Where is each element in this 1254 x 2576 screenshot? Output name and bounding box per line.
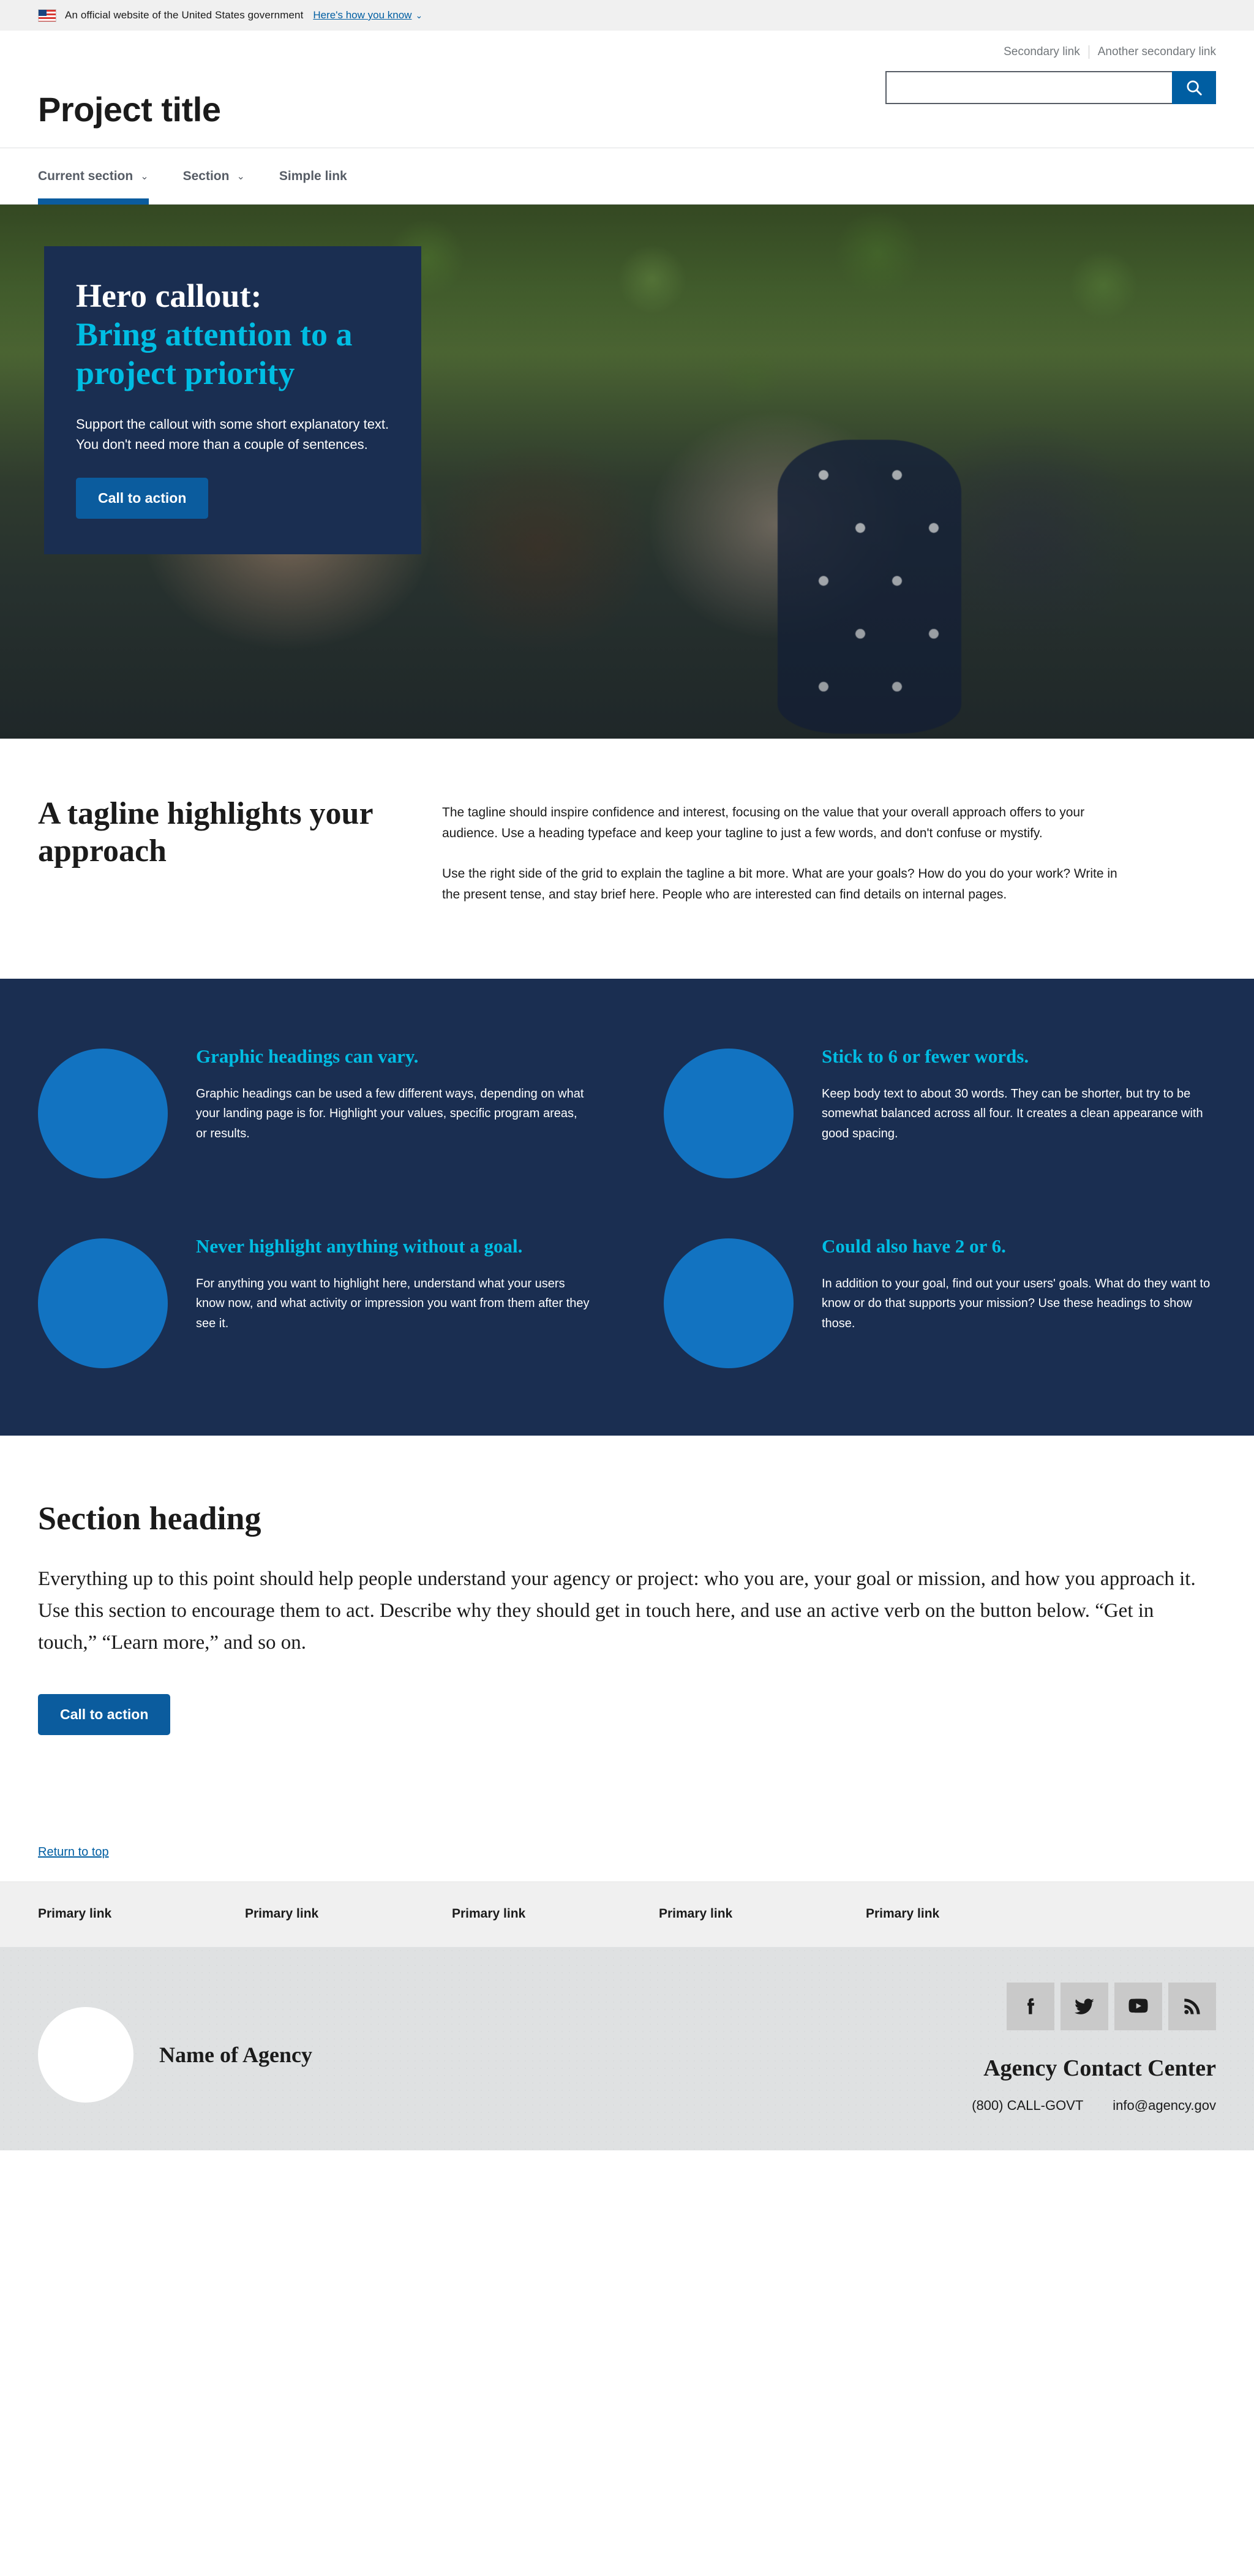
footer-agency-block: Name of Agency	[38, 1983, 312, 2103]
footer-primary-links: Primary link Primary link Primary link P…	[0, 1881, 1254, 1947]
return-to-top-link[interactable]: Return to top	[38, 1845, 109, 1859]
return-to-top-wrap: Return to top	[0, 1772, 1254, 1881]
site-header: Project title Secondary link Another sec…	[0, 31, 1254, 148]
agency-contact-center-title: Agency Contact Center	[972, 2055, 1216, 2082]
graphic-item: Could also have 2 or 6. In addition to y…	[664, 1235, 1216, 1368]
search-button[interactable]	[1172, 71, 1216, 104]
tagline-paragraph-1: The tagline should inspire confidence an…	[442, 802, 1122, 844]
social-links-row	[972, 1983, 1216, 2030]
tagline-right-column: The tagline should inspire confidence an…	[442, 795, 1122, 905]
hero-callout: Hero callout: Bring attention to a proje…	[44, 246, 421, 554]
graphic-circle-icon	[664, 1238, 794, 1368]
tagline-paragraph-2: Use the right side of the grid to explai…	[442, 864, 1122, 905]
footer-primary-link-4[interactable]: Primary link	[659, 1907, 866, 1921]
hero-heading: Hero callout: Bring attention to a proje…	[76, 277, 389, 393]
header-right-group: Secondary link Another secondary link	[885, 45, 1216, 104]
nav-item-label: Simple link	[279, 169, 347, 184]
graphic-list-section: Graphic headings can vary. Graphic headi…	[0, 979, 1254, 1436]
nav-item-current-section[interactable]: Current section ⌄	[38, 148, 149, 205]
graphic-item-text: Graphic headings can vary. Graphic headi…	[196, 1045, 590, 1143]
graphic-item-text: Never highlight anything without a goal.…	[196, 1235, 590, 1333]
footer-primary-link-3[interactable]: Primary link	[452, 1907, 659, 1921]
tagline-heading: A tagline highlights your approach	[38, 795, 405, 870]
graphic-item-heading: Stick to 6 or fewer words.	[822, 1045, 1216, 1068]
page-section-heading: Section heading	[38, 1499, 1216, 1537]
heres-how-you-know-link[interactable]: Here's how you know	[313, 9, 411, 21]
contact-phone[interactable]: (800) CALL-GOVT	[972, 2098, 1083, 2114]
hero-call-to-action-button[interactable]: Call to action	[76, 478, 208, 519]
chevron-down-icon: ⌄	[140, 170, 148, 183]
secondary-links: Secondary link Another secondary link	[885, 45, 1216, 59]
section-call-to-action-button[interactable]: Call to action	[38, 1694, 170, 1735]
graphic-item: Never highlight anything without a goal.…	[38, 1235, 590, 1368]
graphic-item-heading: Never highlight anything without a goal.	[196, 1235, 590, 1258]
us-flag-icon	[38, 9, 56, 22]
graphic-circle-icon	[38, 1049, 168, 1178]
footer-contact-block: Agency Contact Center (800) CALL-GOVT in…	[972, 1983, 1216, 2114]
hero-heading-line1: Hero callout:	[76, 277, 261, 314]
graphic-item-heading: Could also have 2 or 6.	[822, 1235, 1216, 1258]
page-section-body: Everything up to this point should help …	[38, 1563, 1216, 1659]
gov-banner-text: An official website of the United States…	[65, 9, 303, 21]
footer-inner: Name of Agency	[38, 1983, 1216, 2114]
primary-nav: Current section ⌄ Section ⌄ Simple link	[0, 148, 1254, 205]
twitter-icon	[1073, 1995, 1096, 2018]
nav-item-label: Section	[183, 169, 230, 184]
graphic-item-text: Stick to 6 or fewer words. Keep body tex…	[822, 1045, 1216, 1143]
graphic-item-body: Graphic headings can be used a few diffe…	[196, 1084, 590, 1143]
graphic-item-body: Keep body text to about 30 words. They c…	[822, 1084, 1216, 1143]
graphic-circle-icon	[664, 1049, 794, 1178]
rss-icon	[1181, 1995, 1204, 2018]
nav-item-simple-link[interactable]: Simple link	[279, 148, 347, 205]
footer-secondary: Name of Agency	[0, 1947, 1254, 2150]
agency-name: Name of Agency	[159, 2042, 312, 2068]
nav-item-label: Current section	[38, 169, 133, 184]
agency-logo	[38, 2007, 133, 2103]
contact-row: (800) CALL-GOVT info@agency.gov	[972, 2098, 1216, 2114]
youtube-icon	[1127, 1995, 1150, 2018]
hero-section: Hero callout: Bring attention to a proje…	[0, 205, 1254, 739]
secondary-link-2[interactable]: Another secondary link	[1089, 45, 1216, 59]
graphic-item-body: For anything you want to highlight here,…	[196, 1274, 590, 1333]
gov-banner: An official website of the United States…	[0, 0, 1254, 31]
contact-email[interactable]: info@agency.gov	[1113, 2098, 1216, 2114]
search-icon	[1185, 78, 1203, 97]
secondary-link-1[interactable]: Secondary link	[995, 45, 1089, 59]
rss-link[interactable]	[1168, 1983, 1216, 2030]
graphic-grid: Graphic headings can vary. Graphic headi…	[38, 1045, 1216, 1368]
project-title[interactable]: Project title	[38, 89, 220, 129]
nav-item-section[interactable]: Section ⌄	[183, 148, 245, 205]
graphic-item: Stick to 6 or fewer words. Keep body tex…	[664, 1045, 1216, 1178]
facebook-icon	[1019, 1995, 1042, 2018]
youtube-link[interactable]	[1114, 1983, 1162, 2030]
twitter-link[interactable]	[1061, 1983, 1108, 2030]
hero-body-text: Support the callout with some short expl…	[76, 414, 389, 455]
search-input[interactable]	[885, 71, 1172, 104]
hero-heading-accent: Bring attention to a project priority	[76, 315, 389, 393]
graphic-circle-icon	[38, 1238, 168, 1368]
section-heading-block: Section heading Everything up to this po…	[0, 1436, 1254, 1772]
graphic-item-heading: Graphic headings can vary.	[196, 1045, 590, 1068]
chevron-down-icon: ⌄	[236, 170, 244, 183]
chevron-down-icon[interactable]: ⌄	[415, 10, 422, 21]
graphic-item-text: Could also have 2 or 6. In addition to y…	[822, 1235, 1216, 1333]
footer-primary-link-2[interactable]: Primary link	[245, 1907, 452, 1921]
search-form	[885, 71, 1216, 104]
footer-primary-link-1[interactable]: Primary link	[38, 1907, 245, 1921]
tagline-left-column: A tagline highlights your approach	[38, 795, 442, 905]
facebook-link[interactable]	[1007, 1983, 1054, 2030]
page-root: An official website of the United States…	[0, 0, 1254, 2150]
graphic-item-body: In addition to your goal, find out your …	[822, 1274, 1216, 1333]
tagline-section: A tagline highlights your approach The t…	[0, 739, 1254, 979]
graphic-item: Graphic headings can vary. Graphic headi…	[38, 1045, 590, 1178]
footer-primary-link-5[interactable]: Primary link	[866, 1907, 1073, 1921]
